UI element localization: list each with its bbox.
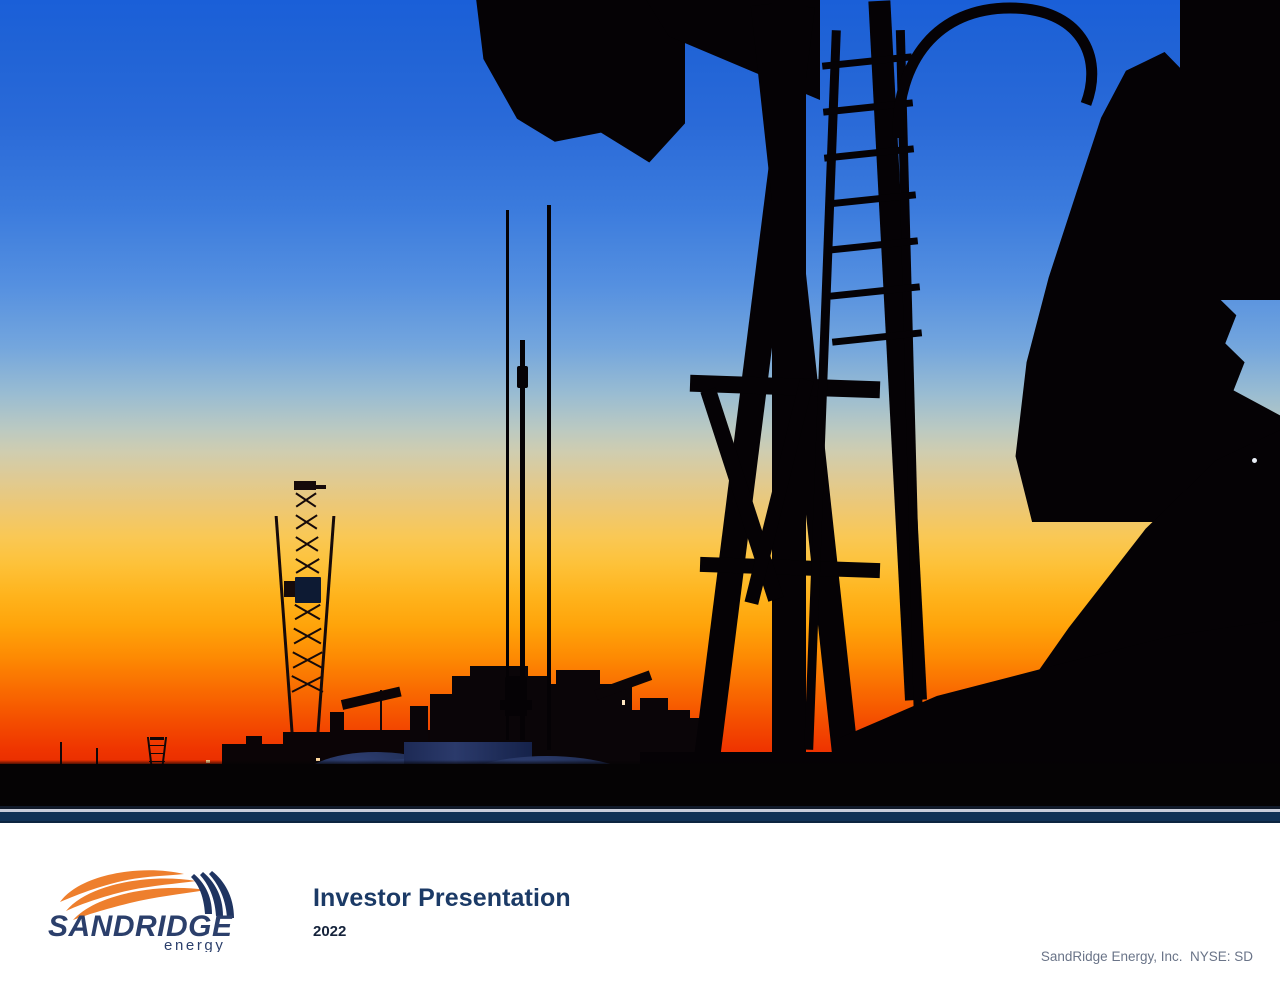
slide-footer: SANDRIDGE energy Investor Presentation 2… [0,823,1280,989]
pumpjack-stuffing-box-collar [500,700,532,710]
page-title: Investor Presentation [313,885,571,913]
sandridge-logo[interactable]: SANDRIDGE energy [46,866,286,952]
pumpjack-silhouette [0,0,1280,809]
company-ticker-line: SandRidge Energy, Inc. NYSE: SD [1041,949,1253,964]
pumpjack-walking-beam [475,0,685,220]
pumpjack-cross-brace [690,375,880,399]
logo-tagline: energy [164,937,225,952]
pumpjack-bridle-cable [547,205,551,750]
pumpjack-stuffing-box [505,676,527,716]
title-slide: SANDRIDGE energy Investor Presentation 2… [0,0,1280,989]
hero-image [0,0,1280,809]
pumpjack-counterweight [1180,0,1280,300]
presentation-year: 2022 [313,924,571,939]
ground-silhouette [0,764,1280,809]
sky-light-point [1252,458,1257,463]
pumpjack-rod-clamp [517,366,528,388]
divider-navy-band [0,812,1280,821]
title-block: Investor Presentation 2022 [313,885,571,939]
pumpjack-bridle-cable [506,210,509,740]
